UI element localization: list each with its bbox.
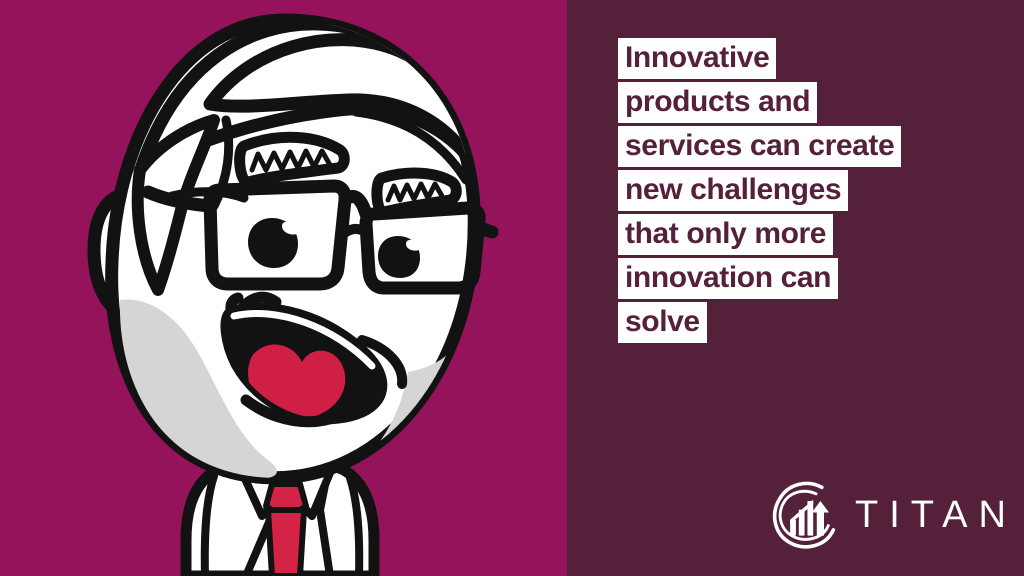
quote-line: new challenges	[618, 170, 848, 211]
quote-line: products and	[618, 82, 817, 123]
titan-wordmark: TITAN	[855, 494, 1017, 534]
quote-line: solve	[618, 302, 707, 343]
quote-line: that only more	[618, 214, 833, 255]
highlighted-quote: Innovative products and services can cre…	[618, 38, 958, 343]
quote-line: Innovative	[618, 38, 776, 79]
quote-line: services can create	[618, 126, 901, 167]
necktie	[266, 484, 306, 576]
eye-right	[378, 236, 420, 278]
slide-canvas: Innovative products and services can cre…	[0, 0, 1024, 576]
quote-line: innovation can	[618, 258, 838, 299]
titan-logo: TITAN	[770, 478, 1017, 550]
titan-logo-mark	[770, 478, 842, 550]
cartoon-businessman-portrait	[0, 0, 567, 576]
bar-chart-icon	[790, 500, 813, 536]
eye-left	[248, 218, 298, 268]
